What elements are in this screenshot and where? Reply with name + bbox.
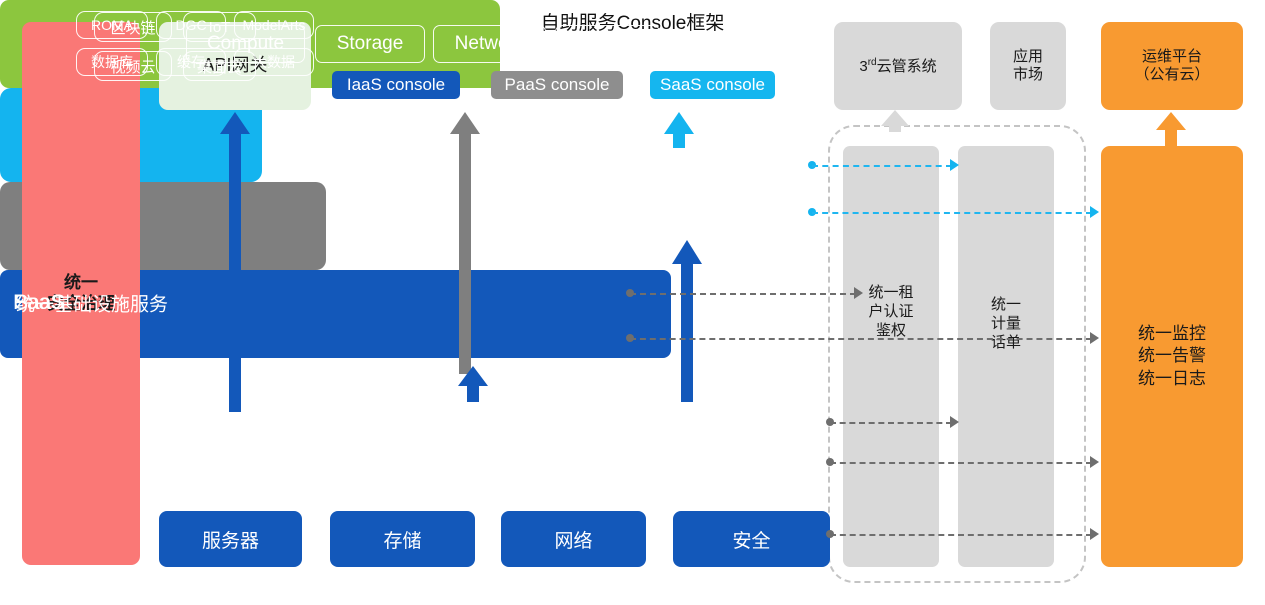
infra-to-ops-line (830, 462, 1092, 464)
metering-band (958, 146, 1054, 567)
arrow-up-to-paas-console (450, 112, 490, 374)
architecture-diagram: 统一 安全治理 API网关 自助服务Console框架 IaaS console… (0, 0, 1265, 605)
resource-network[interactable]: 网络 (501, 511, 646, 567)
arrow-up-infra-to-saas (672, 240, 710, 402)
saas-to-ops-line (812, 212, 1092, 214)
metering-line2: 计量 (958, 315, 1054, 334)
arrow-up-to-saas-console (664, 112, 704, 148)
third-party-cloud-management-box: 3rd云管系统 (834, 22, 962, 110)
resource-server[interactable]: 服务器 (159, 511, 302, 567)
infra-service-network[interactable]: Network (433, 25, 546, 63)
infra-service-cce[interactable]: CCE (555, 25, 660, 63)
third-party-cloud-label: 3rd云管系统 (859, 57, 936, 76)
paas-console-label: PaaS console (505, 75, 610, 95)
arrow-up-to-api-gateway (220, 112, 260, 412)
infra-to-metering-line (830, 422, 952, 424)
saas-to-tenant-auth-arrowhead (950, 159, 959, 171)
ops-right-line2: 统一告警 (1138, 345, 1206, 367)
ops-platform-line1: 运维平台 (1134, 48, 1209, 66)
infra-to-metering-arrowhead (950, 416, 959, 428)
ops-right-line1: 统一监控 (1138, 323, 1206, 345)
arrow-up-to-ops-platform (1156, 112, 1192, 148)
ops-right-line3: 统一日志 (1138, 368, 1206, 390)
arrow-up-infra-to-paas (458, 366, 496, 402)
resource-storage[interactable]: 存储 (330, 511, 475, 567)
paas-service-database[interactable]: 数据库 (76, 48, 148, 76)
unified-monitoring-panel: 统一监控 统一告警 统一日志 (1101, 146, 1243, 567)
saas-to-ops-arrowhead (1090, 206, 1099, 218)
ops-platform-public-cloud-box: 运维平台 （公有云） (1101, 22, 1243, 110)
app-market-line1: 应用 (1013, 48, 1043, 66)
paas-to-ops-arrowhead (1090, 332, 1099, 344)
resource-security[interactable]: 安全 (673, 511, 830, 567)
arrow-up-to-third-cloud (881, 110, 917, 132)
paas-to-ops-line (630, 338, 1092, 340)
metering-label: 统一 计量 话单 (958, 296, 1054, 352)
infra-service-compute[interactable]: Compute (186, 25, 305, 63)
saas-to-tenant-auth-line (812, 165, 952, 167)
resources-to-ops-arrowhead (1090, 528, 1099, 540)
app-market-box: 应用 市场 (990, 22, 1066, 110)
infra-service-storage[interactable]: Storage (315, 25, 425, 63)
metering-line3: 话单 (958, 334, 1054, 353)
saas-console-label: SaaS console (660, 75, 765, 95)
paas-to-tenant-auth-line (630, 293, 856, 295)
metering-line1: 统一 (958, 296, 1054, 315)
iaas-console-chip[interactable]: IaaS console (332, 71, 460, 99)
paas-service-roma[interactable]: ROMA (76, 11, 148, 39)
app-market-line2: 市场 (1013, 66, 1043, 84)
infrastructure-label: 统一基础设施服务 (16, 289, 168, 316)
infra-to-ops-arrowhead (1090, 456, 1099, 468)
saas-console-chip[interactable]: SaaS console (650, 71, 775, 99)
resources-to-ops-line (830, 534, 1092, 536)
tenant-auth-line2: 户认证 (843, 303, 939, 322)
tenant-auth-band (843, 146, 939, 567)
paas-console-chip[interactable]: PaaS console (491, 71, 623, 99)
iaas-console-label: IaaS console (347, 75, 445, 95)
ops-platform-line2: （公有云） (1134, 66, 1209, 84)
paas-to-tenant-auth-arrowhead (854, 287, 863, 299)
